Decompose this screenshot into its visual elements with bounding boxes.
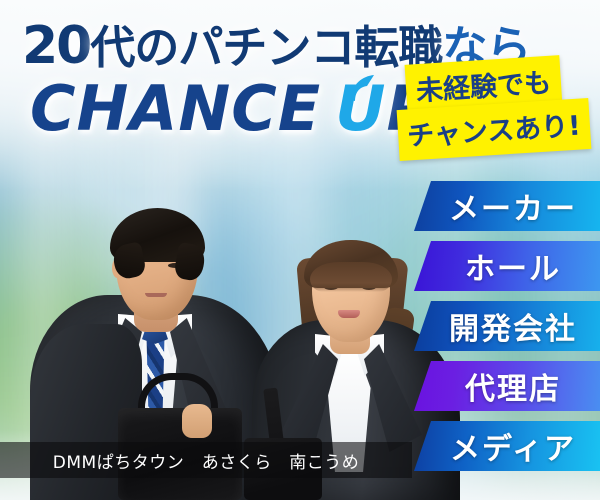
logo-letter-u: U bbox=[335, 72, 386, 145]
category-button-maker[interactable]: メーカー bbox=[414, 181, 600, 231]
headline-body: 代のパチンコ転職 bbox=[90, 21, 442, 74]
category-button-agency[interactable]: 代理店 bbox=[414, 361, 600, 411]
woman-mouth bbox=[338, 310, 360, 318]
headline-number: 20 bbox=[22, 16, 90, 76]
category-label-maker: メーカー bbox=[449, 184, 577, 228]
man-hand bbox=[182, 404, 212, 438]
category-label-agency: 代理店 bbox=[465, 364, 561, 408]
man-hair bbox=[110, 208, 205, 262]
category-button-hall[interactable]: ホール bbox=[414, 241, 600, 291]
man-mouth bbox=[145, 293, 167, 297]
woman-bangs bbox=[310, 262, 392, 292]
recruitment-banner: 20代のパチンコ転職なら CHANCEUP 未経験でも チャンスあり! メーカー… bbox=[0, 0, 600, 500]
category-label-development-company: 開発会社 bbox=[449, 304, 577, 348]
category-button-development-company[interactable]: 開発会社 bbox=[414, 301, 600, 351]
brand-logo: CHANCEUP bbox=[30, 78, 433, 140]
category-button-media[interactable]: メディア bbox=[414, 421, 600, 471]
logo-word-chance: CHANCE bbox=[30, 72, 321, 145]
category-label-media: メディア bbox=[450, 424, 576, 468]
category-label-hall: ホール bbox=[465, 244, 561, 288]
credit-bar: DMMぱちタウン あさくら 南こうめ bbox=[0, 442, 412, 478]
credit-text: DMMぱちタウン あさくら 南こうめ bbox=[53, 448, 359, 473]
